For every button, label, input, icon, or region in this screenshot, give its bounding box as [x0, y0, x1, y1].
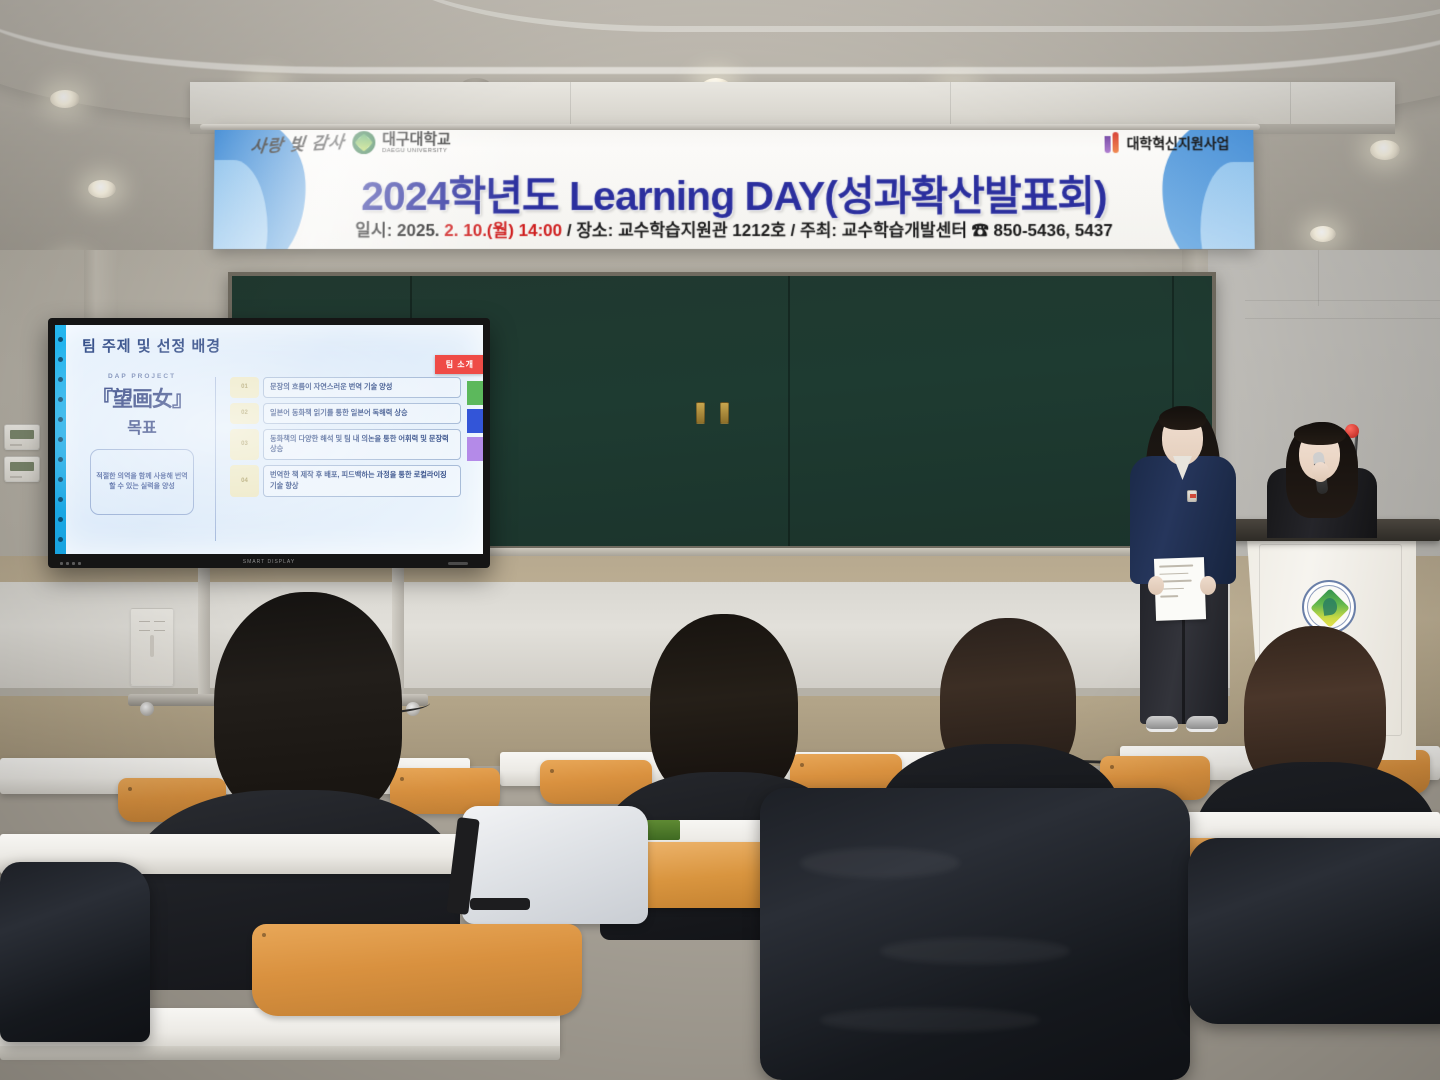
ceiling-downlight [1310, 226, 1336, 242]
audience-hair [214, 592, 402, 820]
ceiling-downlight [50, 90, 80, 108]
slide-objective-text: 일본어 동화책 읽기를 통한 일본어 독해력 상승 [263, 403, 461, 424]
slide-dap-label: DAP PROJECT [81, 373, 203, 380]
banner-host-label: / 주최: [791, 221, 837, 240]
swatch-green [467, 381, 483, 405]
slide-goal-box: 적절한 의역을 함께 사용해 번역할 수 있는 실력을 양성 [90, 449, 194, 515]
slide-film-strip-decoration [55, 325, 66, 554]
ceiling-downlight [88, 180, 116, 198]
presenter-name-badge [1187, 490, 1197, 502]
slide-color-swatches [467, 381, 483, 461]
slide-objective-row: 01 문장의 흐름이 자연스러운 번역 기술 양성 [230, 377, 461, 398]
lecture-hall-photo: 사랑 빛 감사 대구대학교 DAEGU UNIVERSITY 대학혁신지원사업 … [0, 0, 1440, 1080]
banner-date-red: 2. 10.(월) 14:00 [444, 221, 562, 240]
slide-objective-number: 03 [230, 429, 259, 461]
telephone-icon: ☎ [972, 221, 989, 240]
banner-handwriting-slogan: 사랑 빛 감사 [249, 128, 346, 158]
desk-front-edge [0, 1046, 560, 1060]
chalkboard-handle[interactable] [720, 402, 729, 424]
presenter-bangs [1159, 407, 1206, 430]
slide-objective-row: 04 번역한 책 제작 후 배포, 피드백하는 과정을 통한 로컬라이징 기술 … [230, 465, 461, 497]
banner-date-year: 2025. [397, 221, 440, 240]
speaker-hand [1312, 462, 1329, 482]
daegu-university-emblem-icon [352, 131, 375, 154]
backpack-strap [470, 898, 530, 910]
wall-utility-panel[interactable] [130, 608, 174, 686]
black-coat-draped[interactable] [0, 862, 150, 1042]
slide-objective-text: 동화책의 다양한 해석 및 팀 내 의논을 통한 어휘력 및 문장력 상승 [263, 429, 461, 461]
cart-caster [140, 702, 154, 716]
slide-objective-text: 문장의 흐름이 자연스러운 번역 기술 양성 [263, 377, 461, 398]
display-brand-label: SMART DISPLAY [243, 559, 295, 565]
university-innovation-mark-icon [1104, 132, 1121, 153]
banner-university-identity: 사랑 빛 감사 대구대학교 DAEGU UNIVERSITY [250, 130, 451, 155]
slide-vertical-divider [215, 377, 216, 541]
swatch-blue [467, 409, 483, 433]
presenter-hand-right [1200, 576, 1216, 595]
slide-objective-row: 02 일본어 동화책 읽기를 통한 일본어 독해력 상승 [230, 403, 461, 424]
banner-program-identity: 대학혁신지원사업 [1104, 132, 1229, 153]
wall-panel-seam [1245, 300, 1440, 301]
banner-program-name: 대학혁신지원사업 [1126, 133, 1229, 153]
slide-section-badge: 팀 소개 [435, 355, 483, 374]
presenter-shoe-right [1186, 716, 1218, 732]
presenter-hand-left [1148, 576, 1164, 595]
slide-objective-number: 01 [230, 377, 259, 398]
banner-venue-label: / 장소: [567, 221, 614, 240]
slide-objective-number: 04 [230, 465, 259, 497]
wall-control-panel-upper[interactable] [4, 424, 40, 450]
swatch-purple [467, 437, 483, 461]
banner-date-label: 일시: [355, 221, 392, 240]
banner-info-line: 일시: 2025. 2. 10.(월) 14:00 / 장소: 교수학습지원관 … [213, 216, 1254, 241]
slide-objective-row: 03 동화책의 다양한 해석 및 팀 내 의논을 통한 어휘력 및 문장력 상승 [230, 429, 461, 461]
black-puffer-jacket[interactable] [760, 788, 1190, 1080]
lecture-chair[interactable] [252, 924, 582, 1016]
smart-display[interactable]: 팀 주제 및 선정 배경 팀 소개 DAP PROJECT 『望画女』 목표 적… [48, 318, 490, 568]
slide-project-block: DAP PROJECT 『望画女』 목표 적절한 의역을 함께 사용해 번역할 … [81, 373, 203, 515]
wall-panel-seam [1245, 318, 1440, 319]
presentation-slide: 팀 주제 및 선정 배경 팀 소개 DAP PROJECT 『望画女』 목표 적… [55, 325, 483, 554]
slide-title: 팀 주제 및 선정 배경 [82, 335, 221, 356]
slide-project-title: 『望画女』 [81, 383, 203, 413]
display-indicator-leds [60, 562, 81, 565]
slide-objective-number: 02 [230, 403, 259, 424]
display-stand-post-left [198, 546, 210, 696]
banner-host: 교수학습개발센터 [842, 221, 967, 240]
slide-objective-list: 01 문장의 흐름이 자연스러운 번역 기술 양성 02 일본어 동화책 읽기를… [230, 377, 461, 497]
ceiling-downlight [1370, 140, 1400, 160]
slide-goal-text: 적절한 의역을 함께 사용해 번역할 수 있는 실력을 양성 [95, 472, 189, 492]
banner-venue: 교수학습지원관 1212호 [618, 221, 786, 240]
presenter-leg-seam [1182, 618, 1185, 724]
event-banner: 사랑 빛 감사 대구대학교 DAEGU UNIVERSITY 대학혁신지원사업 … [213, 126, 1254, 249]
presenter-shoe-left [1146, 716, 1178, 732]
slide-project-subtitle: 목표 [81, 414, 203, 438]
display-ir-sensor [448, 562, 468, 565]
banner-university-name-kr: 대구대학교 [382, 132, 451, 147]
ceiling-soffit [190, 82, 1395, 124]
black-coat-draped[interactable] [1188, 838, 1440, 1024]
wall-control-panel-lower[interactable] [4, 456, 40, 482]
chalkboard-handle[interactable] [696, 402, 705, 424]
banner-phone: 850-5436, 5437 [993, 221, 1112, 240]
speaker-bangs [1294, 423, 1346, 445]
banner-hanging-rod [200, 124, 1260, 130]
banner-university-name-en: DAEGU UNIVERSITY [382, 148, 451, 154]
wall-panel-seam [1318, 250, 1319, 306]
slide-objective-text: 번역한 책 제작 후 배포, 피드백하는 과정을 통한 로컬라이징 기술 향상 [263, 465, 461, 497]
banner-university-name: 대구대학교 DAEGU UNIVERSITY [382, 132, 451, 154]
banner-title: 2024학년도 Learning DAY(성과확산발표회) [214, 162, 1255, 222]
